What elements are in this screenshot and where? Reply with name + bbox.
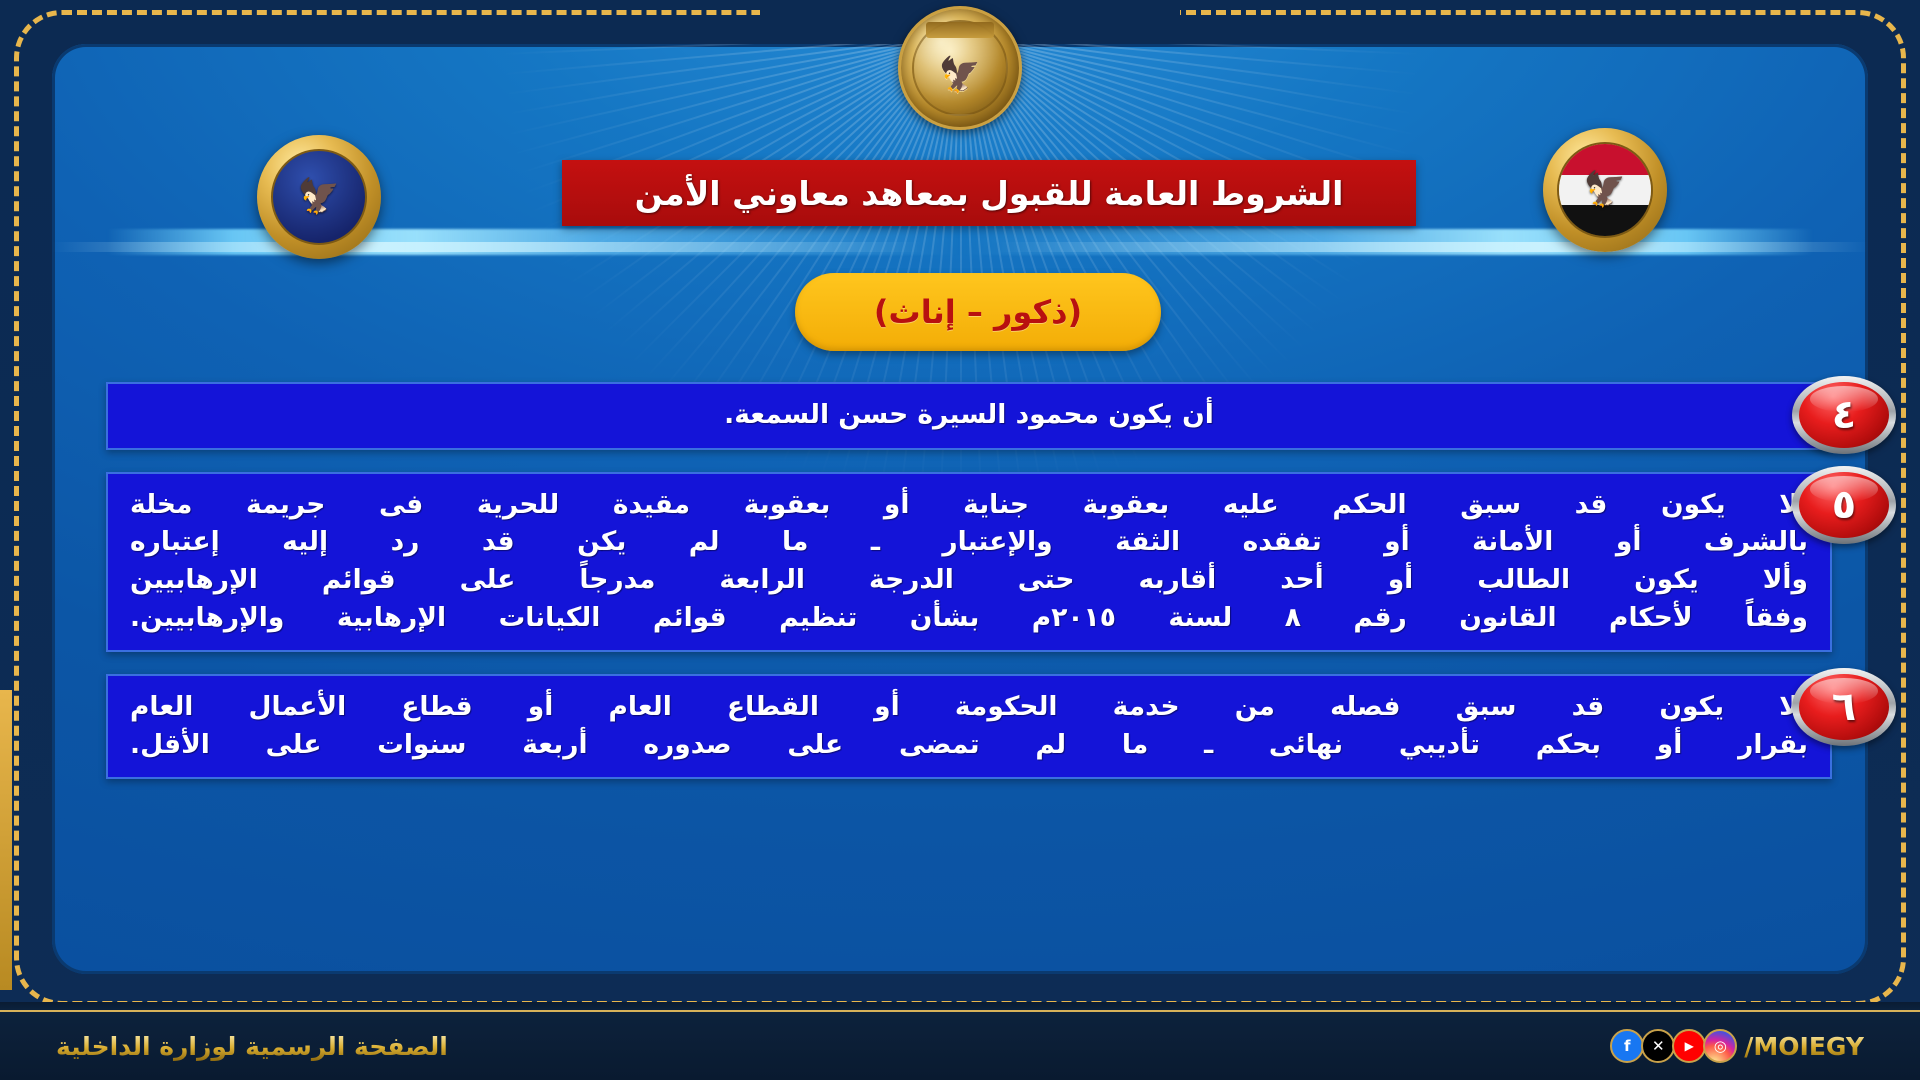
social-links[interactable]: f✕▶◎ /MOIEGY bbox=[1610, 1029, 1864, 1063]
side-gold-tab bbox=[0, 690, 12, 990]
condition-text-box: أن يكون محمود السيرة حسن السمعة. bbox=[106, 382, 1832, 450]
condition-line: ألا يكون قد سبق الحكم عليه بعقوبة جناية … bbox=[130, 486, 1808, 524]
conditions-list: أن يكون محمود السيرة حسن السمعة.٤ألا يكو… bbox=[0, 382, 1920, 801]
condition-line: وفقاً لأحكام القانون رقم ٨ لسنة ٢٠١٥م بش… bbox=[130, 599, 1808, 637]
x-twitter-icon[interactable]: ✕ bbox=[1641, 1029, 1675, 1063]
police-academy-emblem-icon: 🦅 bbox=[257, 135, 381, 259]
page-title: الشروط العامة للقبول بمعاهد معاوني الأمن bbox=[635, 174, 1344, 213]
condition-number-badge: ٥ bbox=[1792, 466, 1896, 544]
instagram-icon[interactable]: ◎ bbox=[1703, 1029, 1737, 1063]
ministry-of-interior-emblem-icon: 🦅 bbox=[1543, 128, 1667, 252]
gender-badge: (ذكور – إناث) bbox=[795, 273, 1161, 351]
condition-item: ألا يكون قد سبق الحكم عليه بعقوبة جناية … bbox=[0, 472, 1920, 653]
condition-text-box: ألا يكون قد سبق الحكم عليه بعقوبة جناية … bbox=[106, 472, 1832, 653]
facebook-icon[interactable]: f bbox=[1610, 1029, 1644, 1063]
condition-number: ٤ bbox=[1832, 395, 1856, 435]
condition-line: بقرار أو بحكم تأديبي نهائى ـ ما لم تمضى … bbox=[130, 726, 1808, 764]
footer-bar: f✕▶◎ /MOIEGY الصفحة الرسمية لوزارة الداخ… bbox=[0, 1010, 1920, 1080]
poster-root: 🦅 🦅 🦅 الشروط العامة للقبول بمعاهد معاوني… bbox=[0, 0, 1920, 1080]
condition-number-badge: ٦ bbox=[1792, 668, 1896, 746]
gender-badge-label: (ذكور – إناث) bbox=[874, 293, 1082, 331]
condition-item: أن يكون محمود السيرة حسن السمعة.٤ bbox=[0, 382, 1920, 450]
condition-line: أن يكون محمود السيرة حسن السمعة. bbox=[130, 396, 1808, 434]
condition-number-badge: ٤ bbox=[1792, 376, 1896, 454]
title-banner: الشروط العامة للقبول بمعاهد معاوني الأمن bbox=[562, 160, 1416, 226]
youtube-icon[interactable]: ▶ bbox=[1672, 1029, 1706, 1063]
footer-official-text: الصفحة الرسمية لوزارة الداخلية bbox=[56, 1032, 448, 1061]
social-handle[interactable]: /MOIEGY bbox=[1744, 1032, 1864, 1061]
condition-item: ألا يكون قد سبق فصله من خدمة الحكومة أو … bbox=[0, 674, 1920, 779]
condition-number: ٦ bbox=[1832, 687, 1856, 727]
condition-line: ألا يكون قد سبق فصله من خدمة الحكومة أو … bbox=[130, 688, 1808, 726]
condition-line: وألا يكون الطالب أو أحد أقاربه حتى الدرج… bbox=[130, 561, 1808, 599]
condition-text-box: ألا يكون قد سبق فصله من خدمة الحكومة أو … bbox=[106, 674, 1832, 779]
condition-line: بالشرف أو الأمانة أو تفقده الثقة والإعتب… bbox=[130, 523, 1808, 561]
police-day-medal-icon: 🦅 bbox=[898, 6, 1022, 130]
condition-number: ٥ bbox=[1832, 485, 1856, 525]
